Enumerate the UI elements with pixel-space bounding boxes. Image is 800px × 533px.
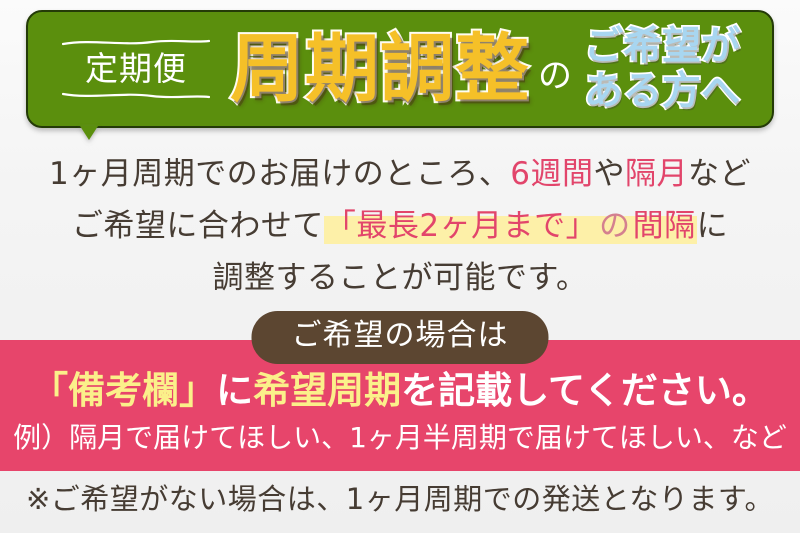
instruction-part-2: を記載してください。	[401, 369, 769, 412]
header-wish-line-2: ある方へ	[584, 69, 740, 114]
body-line-2-highlight-particle: の	[598, 208, 632, 244]
body-line-1-emphasis-2: 隔月	[625, 156, 688, 192]
body-line-1-emphasis-1: 6週間	[510, 156, 593, 192]
instruction-emphasis-remarks: 「備考欄」	[31, 369, 216, 412]
body-line-2-part-2: に	[697, 208, 729, 244]
body-line-1-part-3: など	[688, 156, 751, 192]
header-bubble: 定期便 周期調整 の ご希望が ある方へ	[26, 10, 774, 128]
body-line-3: 調整することが可能です。	[0, 252, 800, 304]
body-line-1: 1ヶ月周期でのお届けのところ、6週間や隔月など	[0, 148, 800, 200]
header-wish-line-1: ご希望が	[584, 24, 740, 69]
speech-bubble-tail	[80, 126, 98, 140]
request-case-pill: ご希望の場合は	[252, 311, 549, 364]
body-line-2-highlight-interval: 間隔	[632, 208, 697, 244]
instruction-main-line: 「備考欄」に希望周期を記載してください。	[0, 368, 800, 414]
instruction-emphasis-cycle: 希望周期	[253, 369, 401, 412]
body-copy: 1ヶ月周期でのお届けのところ、6週間や隔月など ご希望に合わせて「最長2ヶ月まで…	[0, 148, 800, 304]
header-particle: の	[538, 57, 572, 95]
header-wish-block: ご希望が ある方へ	[584, 24, 740, 114]
subscription-badge-label: 定期便	[85, 47, 187, 91]
instruction-example-line: 例）隔月で届けてほしい、1ヶ月半周期で届けてほしい、など	[0, 420, 800, 456]
subscription-badge: 定期便	[60, 38, 212, 100]
promo-banner: 定期便 周期調整 の ご希望が ある方へ 1ヶ月周期でのお届けのところ、6週間や…	[0, 0, 800, 533]
header-section: 定期便 周期調整 の ご希望が ある方へ	[0, 0, 800, 140]
wave-rule-top	[62, 38, 210, 47]
header-title: 周期調整	[230, 29, 530, 109]
wave-rule-bottom	[62, 91, 210, 100]
body-line-2: ご希望に合わせて「最長2ヶ月まで」の間隔に	[0, 200, 800, 252]
body-line-1-part-2: や	[593, 156, 625, 192]
footer-note: ※ご希望がない場合は、1ヶ月周期での発送となります。	[0, 479, 800, 519]
instruction-part-1: に	[216, 369, 253, 412]
body-line-2-part-1: ご希望に合わせて	[72, 208, 324, 244]
body-line-1-part-1: 1ヶ月周期でのお届けのところ、	[49, 156, 510, 192]
body-line-2-highlight-quote: 「最長2ヶ月まで」	[324, 208, 598, 244]
